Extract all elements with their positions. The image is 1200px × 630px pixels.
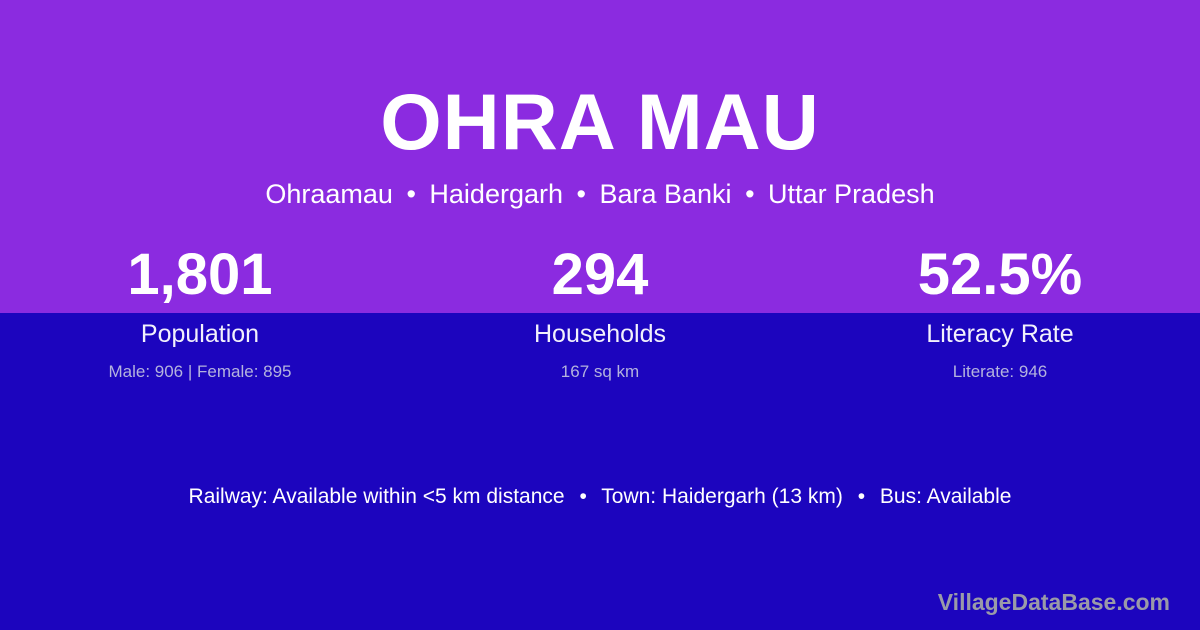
breadcrumb-separator-icon: • xyxy=(571,179,592,209)
stat-literacy-rate: 52.5% Literacy Rate Literate: 946 xyxy=(800,246,1200,380)
amenity-town: Town: Haidergarh (13 km) xyxy=(601,485,843,508)
stat-sublabel: Literate: 946 xyxy=(800,363,1200,380)
stat-label: Households xyxy=(400,322,800,347)
village-info-card: OHRA MAU Ohraamau • Haidergarh • Bara Ba… xyxy=(0,0,1200,630)
breadcrumb-separator-icon: • xyxy=(400,179,421,209)
breadcrumb: Ohraamau • Haidergarh • Bara Banki • Utt… xyxy=(0,161,1200,208)
amenity-railway: Railway: Available within <5 km distance xyxy=(189,485,565,508)
stats-row: 1,801 Population Male: 906 | Female: 895… xyxy=(0,246,1200,380)
breadcrumb-state: Uttar Pradesh xyxy=(768,179,935,209)
breadcrumb-district: Bara Banki xyxy=(599,179,731,209)
stat-households: 294 Households 167 sq km xyxy=(400,246,800,380)
breadcrumb-village: Ohraamau xyxy=(265,179,393,209)
stat-sublabel: Male: 906 | Female: 895 xyxy=(0,363,400,380)
card-header: OHRA MAU Ohraamau • Haidergarh • Bara Ba… xyxy=(0,0,1200,208)
page-title: OHRA MAU xyxy=(0,0,1200,161)
stat-value: 294 xyxy=(400,246,800,304)
stat-value: 52.5% xyxy=(800,246,1200,304)
amenity-separator-icon: • xyxy=(849,485,874,508)
stat-label: Literacy Rate xyxy=(800,322,1200,347)
amenity-separator-icon: • xyxy=(570,485,595,508)
breadcrumb-separator-icon: • xyxy=(739,179,760,209)
stat-sublabel: 167 sq km xyxy=(400,363,800,380)
amenity-bus: Bus: Available xyxy=(880,485,1012,508)
stat-label: Population xyxy=(0,322,400,347)
breadcrumb-block: Haidergarh xyxy=(429,179,563,209)
stat-value: 1,801 xyxy=(0,246,400,304)
stat-population: 1,801 Population Male: 906 | Female: 895 xyxy=(0,246,400,380)
site-brand-watermark: VillageDataBase.com xyxy=(938,591,1170,614)
amenities-line: Railway: Available within <5 km distance… xyxy=(0,486,1200,507)
